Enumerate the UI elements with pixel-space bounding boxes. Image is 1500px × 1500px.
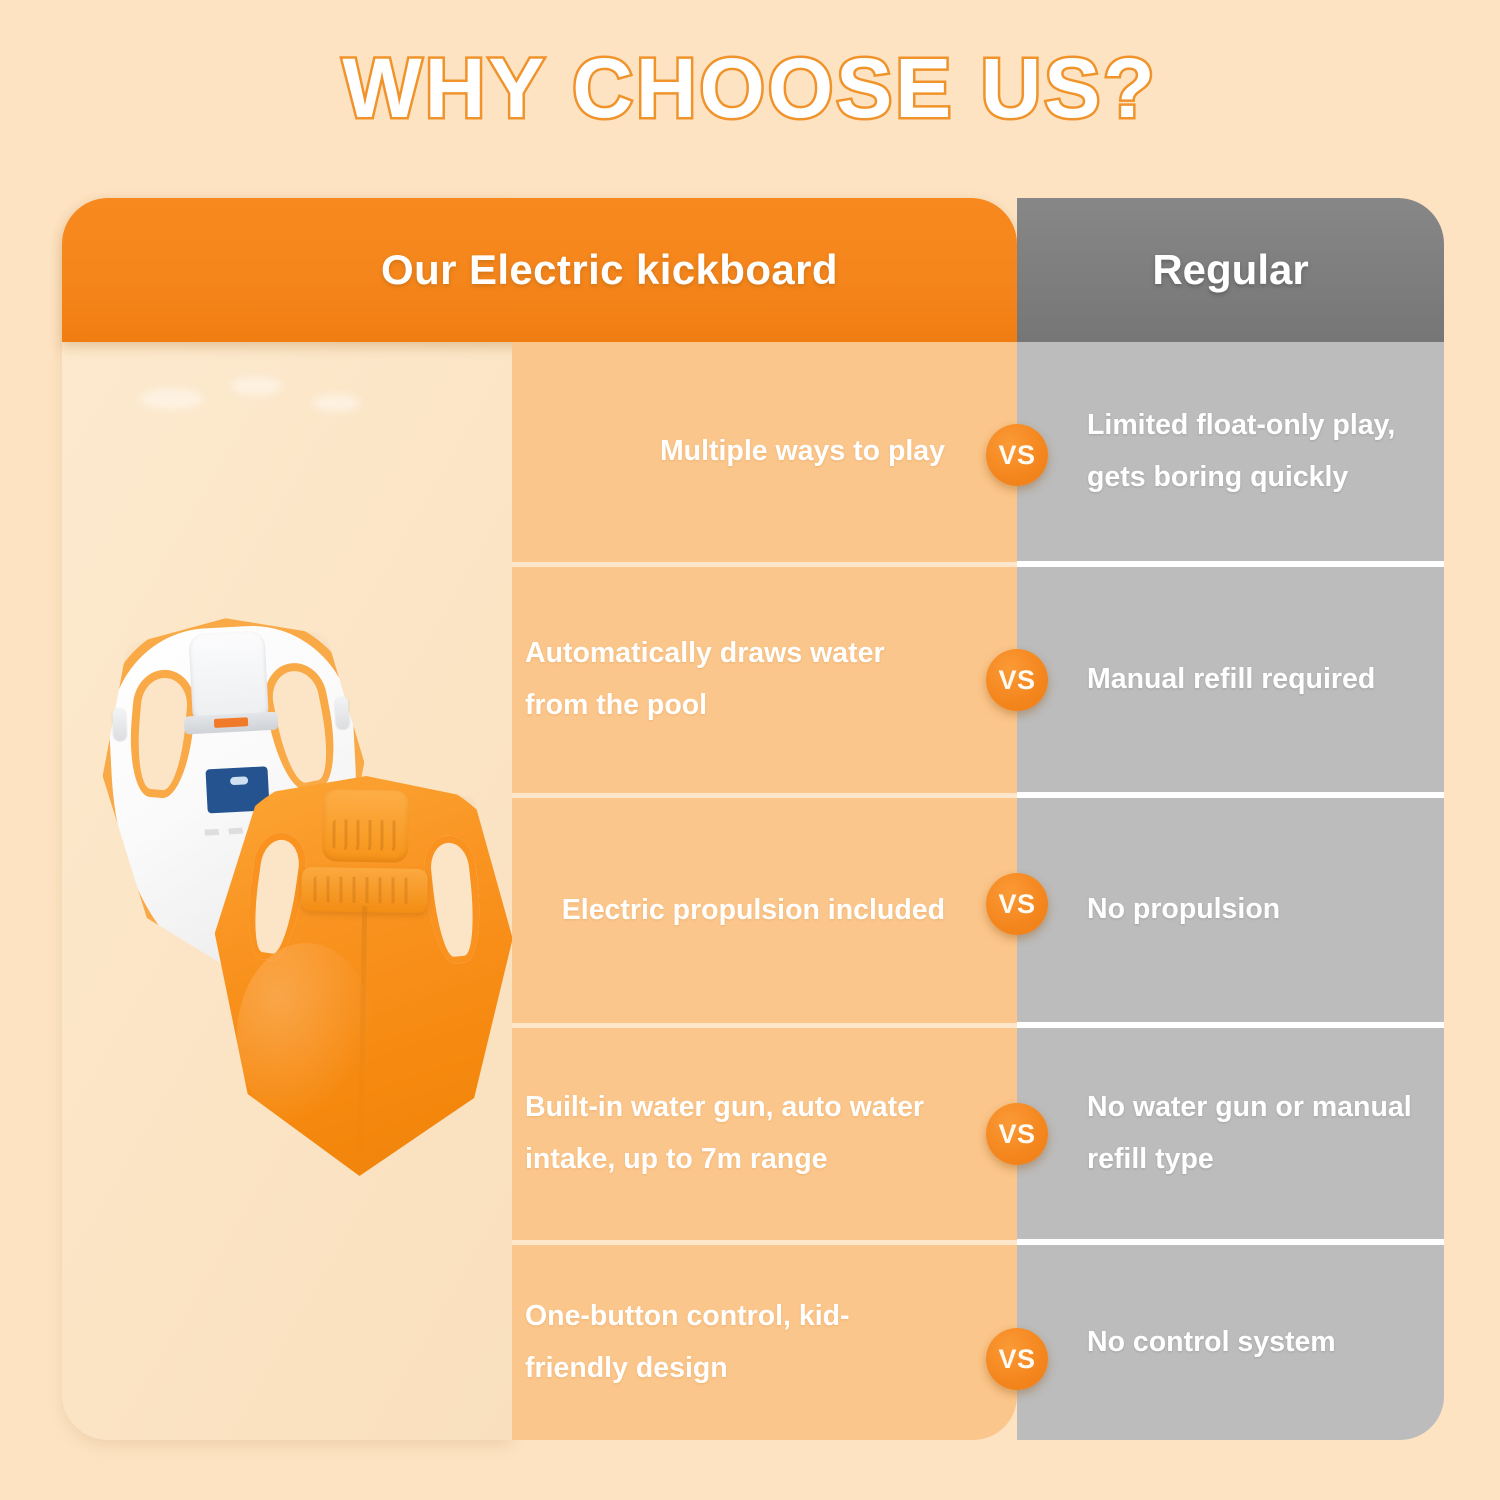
regular-column-header: Regular [1017, 198, 1444, 342]
ours-cell-text: Multiple ways to play [660, 426, 945, 478]
regular-cell-text: No propulsion [1087, 884, 1280, 936]
regular-cell-row-4: No water gun or manual refill type [1017, 1028, 1444, 1245]
ours-header-label: Our Electric kickboard [202, 198, 1017, 342]
vs-badge-row-5: VS [986, 1328, 1048, 1390]
vs-badge-row-2: VS [986, 649, 1048, 711]
ours-cell-text: Automatically draws water from the pool [525, 628, 945, 732]
regular-cell-row-3: No propulsion [1017, 798, 1444, 1028]
vs-badge-row-1: VS [986, 424, 1048, 486]
regular-cell-text: Manual refill required [1087, 654, 1375, 706]
vs-badge-row-4: VS [986, 1103, 1048, 1165]
ours-column-header: Our Electric kickboard [62, 198, 1017, 342]
title-container: WHY CHOOSE US? [0, 46, 1500, 130]
regular-cells: Limited float-only play, gets boring qui… [1017, 342, 1444, 1440]
comparison-table: Our Electric kickboard Multiple ways to … [62, 198, 1444, 1440]
regular-cell-text: Limited float-only play, gets boring qui… [1087, 400, 1444, 504]
ours-cell-row-2: Automatically draws water from the pool [512, 567, 1017, 798]
ours-cell-text: Electric propulsion included [562, 885, 945, 937]
page-title: WHY CHOOSE US? [342, 46, 1157, 130]
ours-cell-row-3: Electric propulsion included [512, 798, 1017, 1028]
regular-cell-row-1: Limited float-only play, gets boring qui… [1017, 342, 1444, 567]
vs-badge-row-3: VS [986, 873, 1048, 935]
regular-cell-text: No control system [1087, 1317, 1336, 1369]
ours-cell-text: Built-in water gun, auto water intake, u… [525, 1082, 945, 1186]
ours-column: Our Electric kickboard Multiple ways to … [62, 198, 1017, 1440]
ours-cell-row-5: One-button control, kid-friendly design [512, 1245, 1017, 1440]
ours-cell-row-1: Multiple ways to play [512, 342, 1017, 567]
ours-cells: Multiple ways to play Automatically draw… [512, 342, 1017, 1440]
regular-cell-text: No water gun or manual refill type [1087, 1082, 1444, 1186]
regular-header-label: Regular [1017, 198, 1444, 342]
regular-column: Regular Limited float-only play, gets bo… [1017, 198, 1444, 1440]
ours-cell-text: One-button control, kid-friendly design [525, 1291, 945, 1395]
regular-cell-row-5: No control system [1017, 1245, 1444, 1440]
ours-cell-row-4: Built-in water gun, auto water intake, u… [512, 1028, 1017, 1245]
regular-cell-row-2: Manual refill required [1017, 567, 1444, 798]
